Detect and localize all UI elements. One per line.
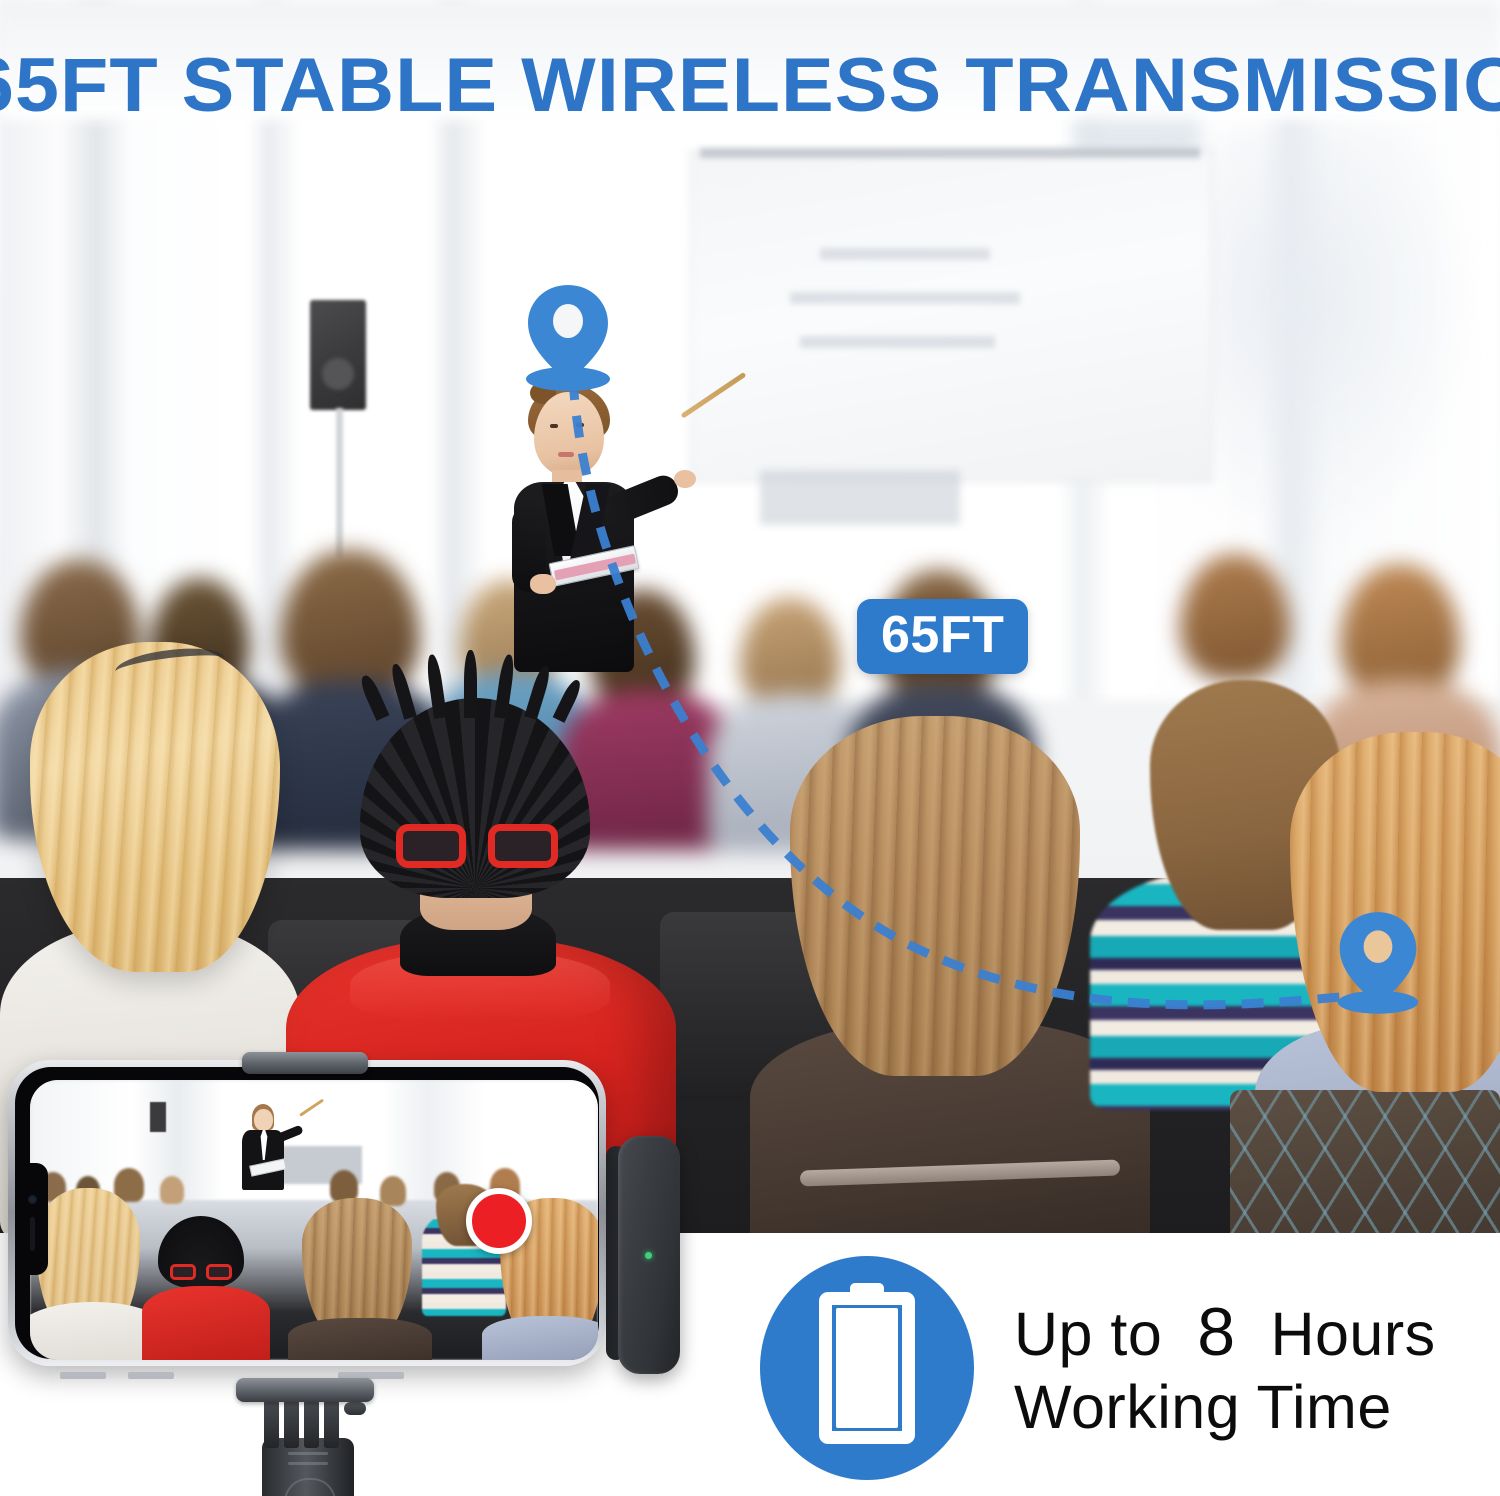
battery-full-icon [760, 1256, 974, 1480]
phone-bezel [15, 1067, 599, 1359]
phone-mockup [8, 1060, 628, 1390]
battery-line1-prefix: Up to [1014, 1300, 1162, 1368]
battery-feature: Up to 8 Hours Working Time [760, 1248, 1480, 1488]
record-button[interactable] [466, 1188, 532, 1254]
phone-body [8, 1060, 606, 1366]
battery-shell [819, 1292, 915, 1444]
mount-thumbscrew[interactable] [344, 1402, 366, 1415]
battery-fill [836, 1308, 898, 1428]
earpiece-speaker-icon [30, 1217, 35, 1251]
battery-line1-suffix: Hours [1270, 1300, 1435, 1368]
page-title: 65FT STABLE WIRELESS TRANSMISSION [0, 42, 1500, 129]
phone-screen [30, 1080, 598, 1360]
volume-button[interactable] [60, 1372, 106, 1379]
post-detail-line [288, 1452, 328, 1455]
post-detail-line [288, 1462, 328, 1465]
mini-presenter [230, 1104, 298, 1196]
front-camera-icon [28, 1195, 37, 1204]
battery-cap [850, 1283, 884, 1301]
product-feature-poster: 65FT 65FT STABLE WIRELESS TRANSMISSION [0, 0, 1500, 1496]
battery-feature-line1: Up to 8 Hours [1014, 1292, 1436, 1372]
transmission-path [0, 0, 1500, 1236]
distance-badge: 65FT [857, 599, 1028, 674]
source-pin-icon [520, 283, 616, 391]
mount-grip-top [242, 1052, 368, 1074]
battery-hours-value: 8 [1197, 1294, 1235, 1370]
battery-feature-line2: Working Time [1014, 1372, 1436, 1444]
battery-feature-text: Up to 8 Hours Working Time [1014, 1292, 1436, 1444]
conference-hall-photo: 65FT [0, 0, 1500, 1236]
status-led-icon [645, 1252, 652, 1259]
mount-grip-bottom [236, 1378, 374, 1402]
volume-button[interactable] [128, 1372, 174, 1379]
tripod-mount-head [258, 1396, 354, 1452]
phone-notch [24, 1163, 48, 1275]
receiver-pin-icon [1332, 910, 1424, 1014]
